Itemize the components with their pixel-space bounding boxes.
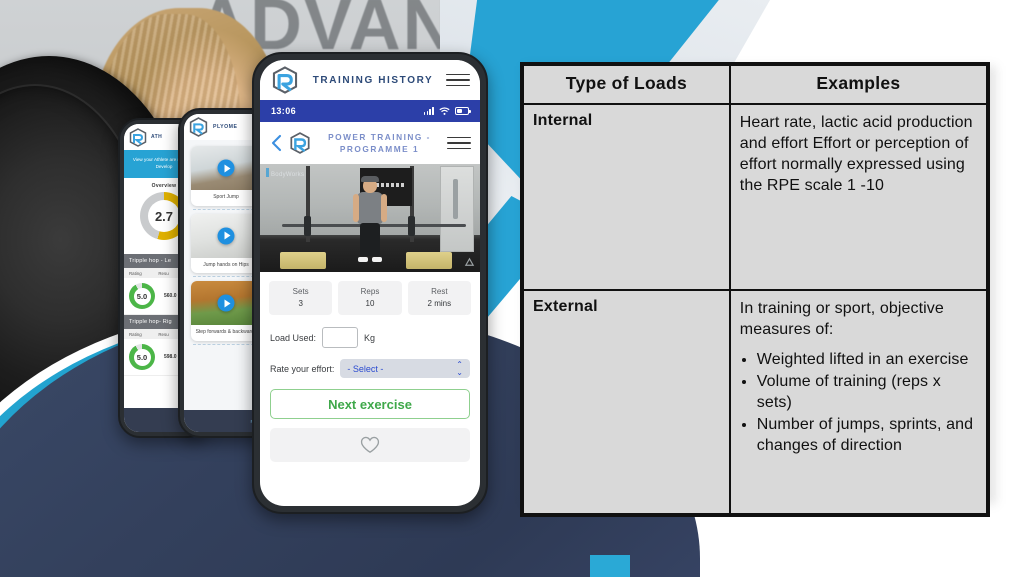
athlete-arm-left: [353, 194, 359, 222]
table-row: External In training or sport, objective…: [522, 290, 988, 515]
overview-score-value: 2.7: [155, 209, 173, 224]
list-item: Volume of training (reps x sets): [757, 371, 977, 413]
stat-reps-label: Reps: [340, 287, 399, 296]
exercise-name: Jump hands on Hips: [191, 258, 261, 274]
rc-hex-logo-icon: [188, 117, 209, 137]
rate-effort-select[interactable]: - Select - ⌃⌄: [340, 359, 470, 378]
external-bullet-list: Weighted lifted in an exercise Volume of…: [740, 349, 977, 456]
athlete-shoe-left: [358, 257, 368, 262]
rc-hex-logo-icon: [128, 128, 148, 147]
video-weight-plate: [408, 216, 415, 236]
load-used-input[interactable]: [322, 327, 358, 348]
external-intro-text: In training or sport, objective measures…: [740, 298, 977, 340]
chevron-left-icon[interactable]: [269, 134, 283, 152]
athlete-arm-right: [381, 194, 387, 222]
phone-main-screen: TRAINING HISTORY 13:06: [260, 60, 480, 506]
list-item[interactable]: Sport Jump: [191, 146, 261, 206]
favourite-button[interactable]: [270, 428, 470, 462]
main-appbar: TRAINING HISTORY: [260, 60, 480, 100]
status-icons: [424, 107, 469, 116]
rating-ring: 5.0: [129, 283, 155, 309]
table-header-row: Type of Loads Examples: [522, 64, 988, 104]
play-icon[interactable]: [218, 160, 235, 177]
rc-hex-logo-icon: [270, 66, 300, 94]
stat-sets-value: 3: [271, 299, 330, 308]
table-header-cell-type: Type of Loads: [522, 64, 730, 104]
table-cell-type-internal: Internal: [522, 104, 730, 290]
video-watermark: BodyWorks: [266, 168, 304, 178]
plyometrics-app-title: PLYOME: [213, 124, 237, 130]
list-item[interactable]: Step forwards & backwards: [191, 281, 261, 341]
row-label-internal: Internal: [533, 112, 720, 130]
col-result-label: Resu: [158, 271, 168, 276]
rc-hex-logo-icon: [288, 132, 312, 154]
exercise-thumbnail: [191, 146, 261, 190]
page-title: TRAINING HISTORY: [300, 75, 446, 86]
stat-sets: Sets 3: [269, 281, 332, 315]
video-plyo-box: [406, 252, 452, 269]
table-cell-examples-external: In training or sport, objective measures…: [730, 290, 988, 515]
list-item: Number of jumps, sprints, and changes of…: [757, 414, 977, 456]
play-icon[interactable]: [218, 227, 235, 244]
col-result-label: Resu: [158, 332, 168, 337]
exercise-thumbnail: [191, 281, 261, 325]
row-label-external: External: [533, 298, 720, 316]
load-used-row: Load Used: Kg: [260, 315, 480, 348]
table-row: Internal Heart rate, lactic acid product…: [522, 104, 988, 290]
rating-value: 5.0: [137, 353, 147, 362]
status-time: 13:06: [271, 106, 296, 116]
stat-reps: Reps 10: [338, 281, 401, 315]
divider: [193, 344, 259, 345]
exercise-thumbnail: [191, 214, 261, 258]
slide-canvas: ADVANCE Jordan ® Type of Loads Example: [0, 0, 1024, 577]
internal-examples-text: Heart rate, lactic acid production and e…: [740, 112, 977, 196]
metrics-app-title: ATH: [151, 134, 162, 140]
types-of-loads-table: Type of Loads Examples Internal Heart ra…: [520, 62, 990, 517]
play-icon[interactable]: [218, 295, 235, 312]
athlete-shoe-right: [372, 257, 382, 262]
athlete-torso: [357, 192, 383, 224]
list-item[interactable]: Jump hands on Hips: [191, 214, 261, 274]
nav-bar: POWER TRAINING - PROGRAMME 1: [260, 122, 480, 164]
rate-effort-selected-value: - Select -: [347, 364, 383, 374]
hamburger-menu-icon[interactable]: [447, 137, 471, 150]
stat-rest-value: 2 mins: [410, 299, 469, 308]
exercise-video-player[interactable]: BodyWorks: [260, 164, 480, 272]
video-door: [440, 166, 474, 252]
load-unit-label: Kg: [364, 333, 375, 343]
col-rating-label: Rating: [129, 271, 158, 276]
video-athlete: [352, 178, 388, 262]
expand-icon[interactable]: [464, 257, 475, 268]
table-header-type-label: Type of Loads: [533, 73, 720, 94]
hamburger-menu-icon[interactable]: [446, 74, 470, 87]
table-header-examples-label: Examples: [740, 73, 977, 94]
stat-reps-value: 10: [340, 299, 399, 308]
battery-icon: [455, 107, 469, 115]
heart-outline-icon: [360, 436, 380, 454]
table-header-cell-examples: Examples: [730, 64, 988, 104]
external-examples-text: In training or sport, objective measures…: [740, 298, 977, 456]
select-chevron-icon: ⌃⌄: [456, 361, 463, 377]
signal-bars-icon: [424, 107, 434, 115]
stat-rest: Rest 2 mins: [408, 281, 471, 315]
bottom-cyan-tab: [590, 555, 630, 577]
rating-value: 5.0: [137, 292, 147, 301]
table-cell-examples-internal: Heart rate, lactic acid production and e…: [730, 104, 988, 290]
rating-ring: 5.0: [129, 344, 155, 370]
divider: [193, 209, 259, 210]
rate-effort-row: Rate your effort: - Select - ⌃⌄: [260, 348, 480, 378]
table-cell-type-external: External: [522, 290, 730, 515]
nav-title: POWER TRAINING - PROGRAMME 1: [317, 131, 442, 155]
exercise-name: Step forwards & backwards: [191, 325, 261, 341]
stat-rest-label: Rest: [410, 287, 469, 296]
status-bar: 13:06: [260, 100, 480, 122]
exercise-stats-row: Sets 3 Reps 10 Rest 2 mins: [260, 272, 480, 315]
divider: [193, 276, 259, 277]
stat-sets-label: Sets: [271, 287, 330, 296]
load-used-label: Load Used:: [270, 333, 316, 343]
wifi-icon: [439, 107, 450, 116]
rate-effort-label: Rate your effort:: [270, 364, 334, 374]
next-exercise-label: Next exercise: [328, 397, 412, 412]
col-rating-label: Rating: [129, 332, 158, 337]
video-plyo-box: [280, 252, 326, 269]
athlete-cap: [361, 176, 379, 182]
list-item: Weighted lifted in an exercise: [757, 349, 977, 370]
next-exercise-button[interactable]: Next exercise: [270, 389, 470, 419]
video-weight-plate: [304, 216, 311, 236]
athlete-legs: [360, 223, 380, 256]
phone-mockup-main: TRAINING HISTORY 13:06: [252, 52, 488, 514]
exercise-name: Sport Jump: [191, 190, 261, 206]
video-watermark-text: BodyWorks: [271, 172, 304, 178]
